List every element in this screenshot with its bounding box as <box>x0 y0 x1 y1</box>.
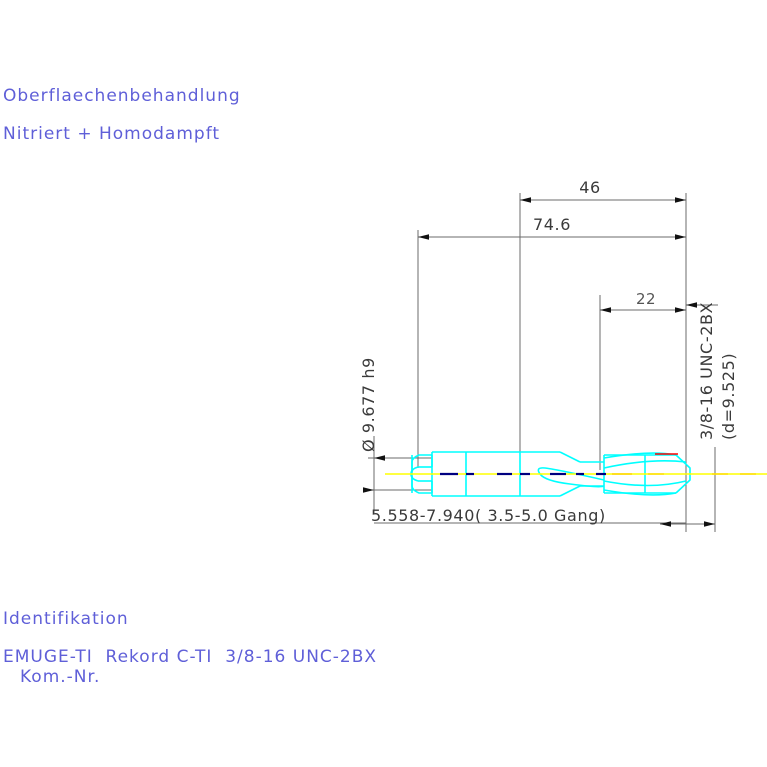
dimension-label-thread-spec-line2: (d=9.525) <box>719 353 738 440</box>
label-identification: Identifikation <box>3 609 129 629</box>
value-identification: EMUGE-TI Rekord C-TI 3/8-16 UNC-2BX <box>3 647 377 667</box>
thread-accent-group <box>612 454 756 474</box>
tool-flute-curve-left <box>538 468 604 487</box>
tool-neck-taper-top <box>560 452 580 462</box>
dimension-lines-group <box>374 200 718 524</box>
dimension-label-22: 22 <box>636 290 656 308</box>
technical-drawing-svg: 46 74.6 22 Ø 9.677 h9 3/8-16 UNC-2BX (d=… <box>0 0 767 767</box>
label-surface-treatment: Oberflaechenbehandlung <box>3 86 241 106</box>
dimension-label-shank-diameter: Ø 9.677 h9 <box>359 357 378 452</box>
dimension-label-74-6: 74.6 <box>533 215 571 234</box>
tool-neck-taper-bottom <box>560 486 580 496</box>
dimension-label-chamfer-lead: 5.558-7.940( 3.5-5.0 Gang) <box>371 506 606 525</box>
dimension-label-thread-spec-line1: 3/8-16 UNC-2BX <box>697 302 716 440</box>
dimension-label-46: 46 <box>579 178 601 197</box>
label-commission-number: Kom.-Nr. <box>20 667 100 687</box>
cad-drawing-canvas: 46 74.6 22 Ø 9.677 h9 3/8-16 UNC-2BX (d=… <box>0 0 767 767</box>
value-surface-treatment: Nitriert + Homodampft <box>3 124 220 144</box>
